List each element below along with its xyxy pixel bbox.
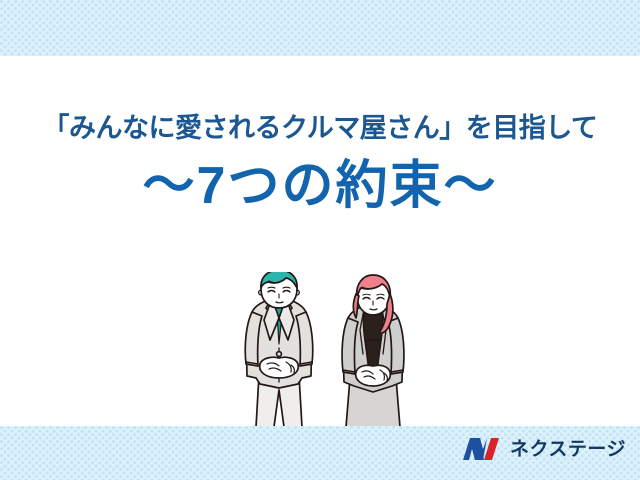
brand-name-label: ネクステージ — [510, 440, 626, 459]
female-staff-figure — [342, 275, 404, 427]
top-dot-band — [0, 0, 640, 56]
headline-block: 「みんなに愛されるクルマ屋さん」を目指して ～7つの約束～ — [0, 112, 640, 215]
male-staff-figure — [245, 272, 313, 427]
promo-banner: 「みんなに愛されるクルマ屋さん」を目指して ～7つの約束～ — [0, 0, 640, 480]
headline-secondary: ～7つの約束～ — [0, 158, 640, 215]
nexstage-n-logo-icon — [460, 436, 502, 462]
brand-logo: ネクステージ — [460, 436, 626, 462]
headline-primary: 「みんなに愛されるクルマ屋さん」を目指して — [0, 112, 640, 146]
two-bowing-staff-illustration — [236, 272, 426, 430]
